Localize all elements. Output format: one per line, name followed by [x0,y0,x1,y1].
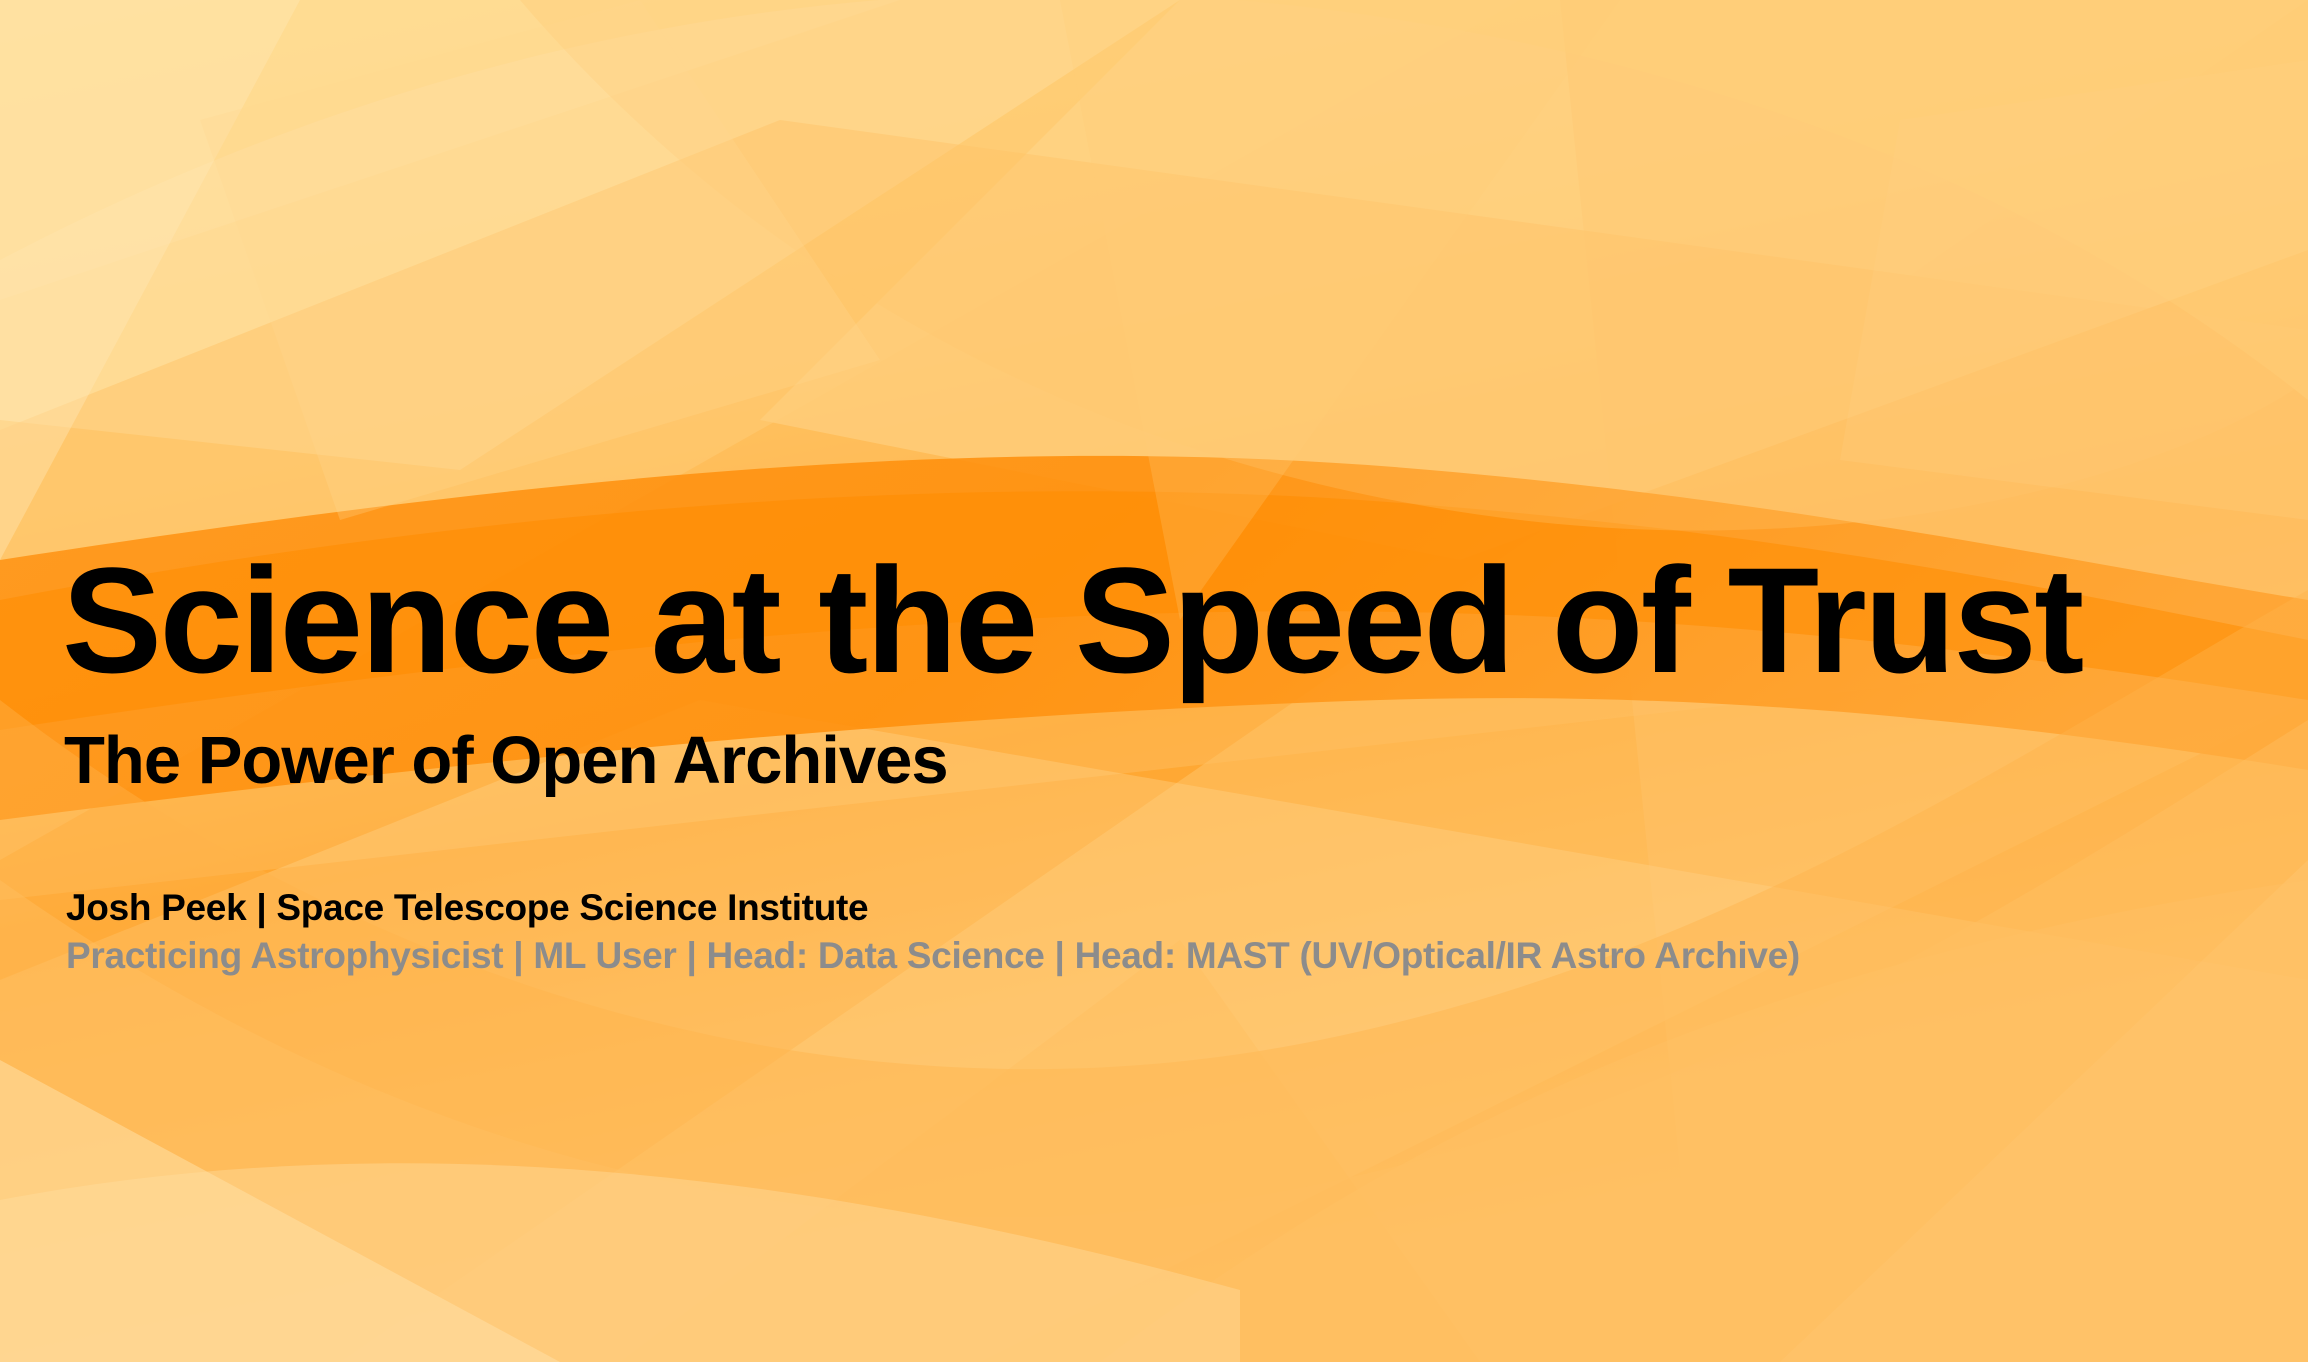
byline-author-affiliation: Josh Peek | Space Telescope Science Inst… [66,884,1800,932]
presentation-title-slide: Science at the Speed of Trust The Power … [0,0,2308,1362]
slide-subtitle: The Power of Open Archives [64,727,948,794]
byline: Josh Peek | Space Telescope Science Inst… [66,884,1800,980]
byline-roles: Practicing Astrophysicist | ML User | He… [66,932,1800,980]
slide-title: Science at the Speed of Trust [62,545,2082,695]
slide-content: Science at the Speed of Trust The Power … [0,0,2308,1362]
